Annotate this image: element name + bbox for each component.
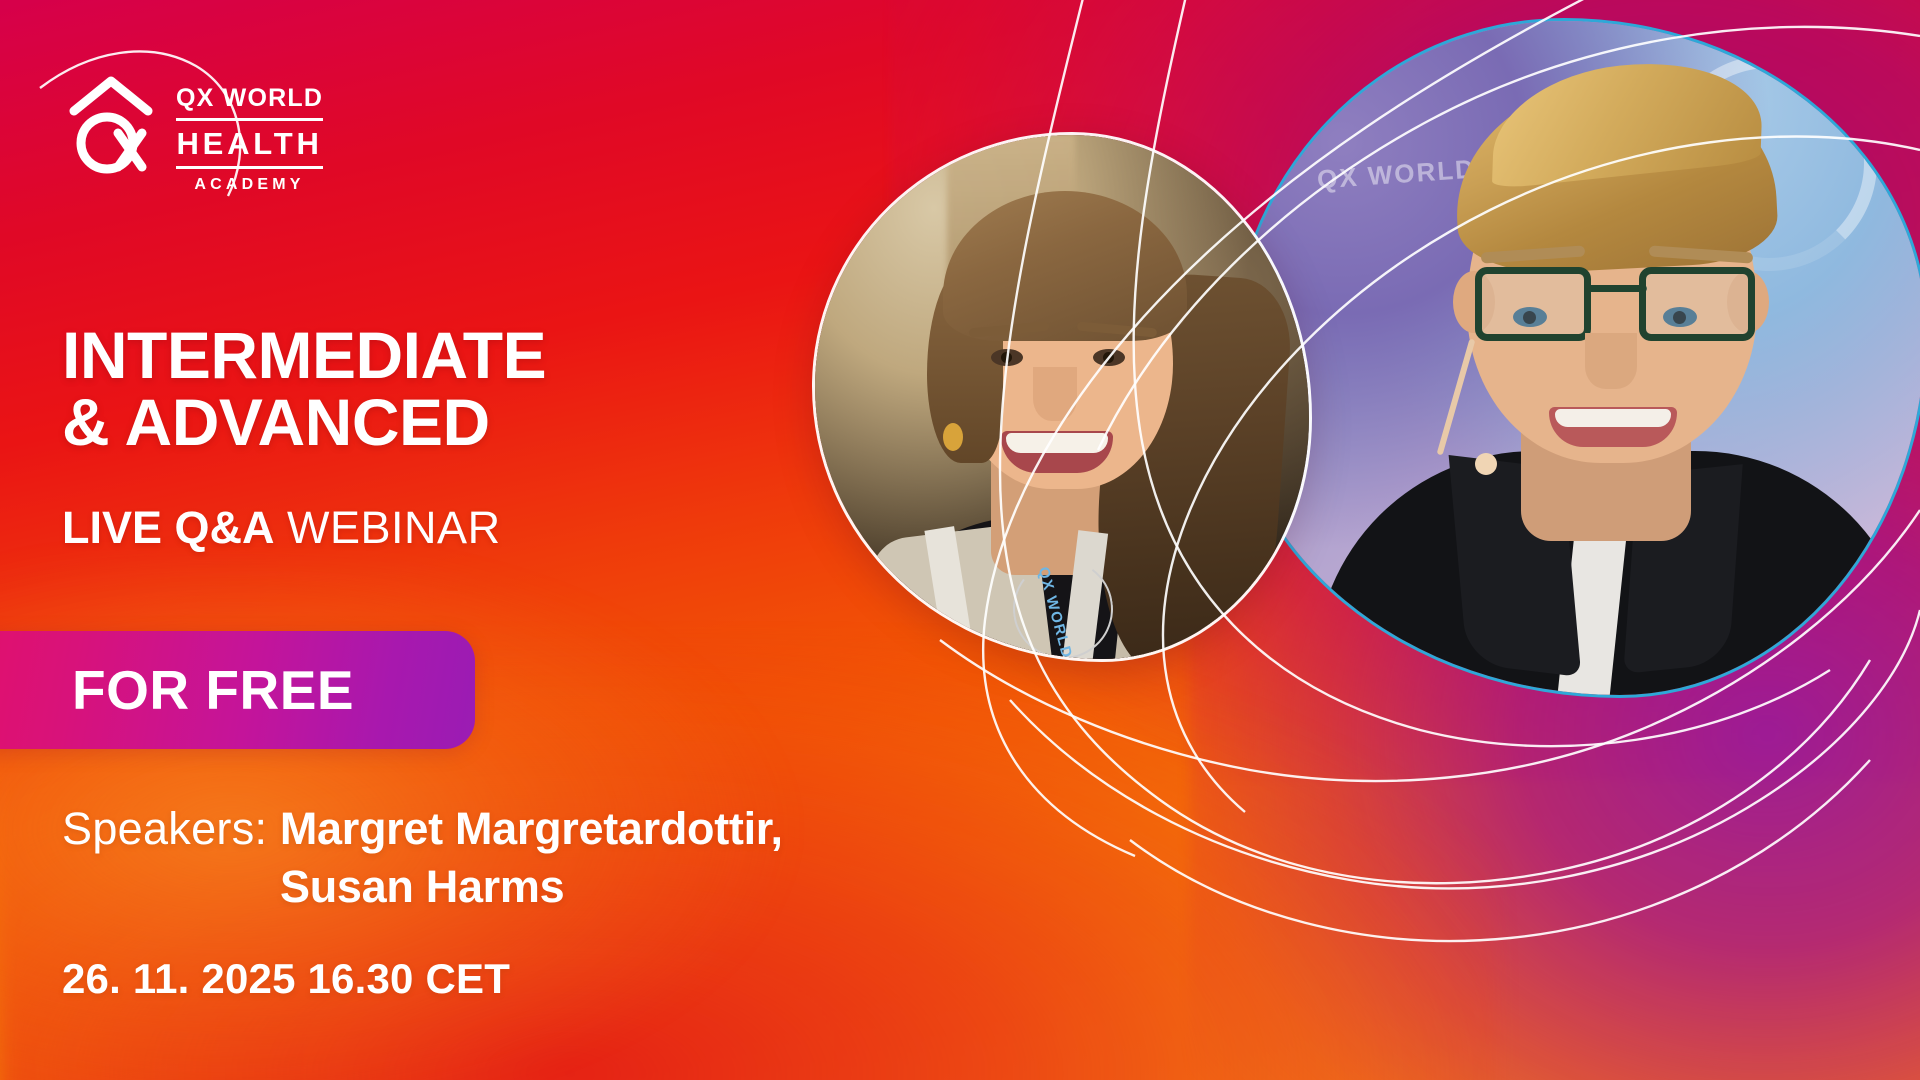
speaker2-nose	[1585, 333, 1637, 389]
subheadline-webinar: WEBINAR	[287, 502, 501, 553]
speaker1-mouth	[1001, 431, 1113, 473]
speaker2-mouth	[1549, 407, 1677, 447]
speaker-name-1: Margret Margretardottir,	[280, 803, 783, 854]
brand-line-academy: ACADEMY	[176, 169, 323, 193]
brand-logo-text: QX WORLD HEALTH ACADEMY	[176, 60, 323, 193]
speaker1-nose	[1033, 367, 1077, 421]
speaker2-glasses	[1475, 267, 1755, 343]
speakers-label: Speakers:	[62, 803, 267, 854]
webinar-promo-banner: QX WORLD	[0, 0, 1920, 1080]
speaker1-teeth	[1006, 433, 1108, 453]
speaker1-eye-left	[991, 349, 1023, 366]
glasses-bridge	[1587, 285, 1647, 292]
speaker-photo-susan-harms: QX WORLD	[1228, 18, 1920, 698]
for-free-badge: FOR FREE	[0, 631, 475, 749]
brand-logo: QX WORLD HEALTH ACADEMY	[62, 60, 323, 193]
speakers-line-2: Susan Harms	[62, 858, 783, 916]
speaker-photo-margret-margretardottir: QX WORLD	[812, 132, 1312, 662]
speaker2-teeth	[1555, 409, 1671, 427]
headset-microphone-tip	[1475, 453, 1497, 475]
glasses-lens-right	[1639, 267, 1755, 341]
speakers-line-1: Speakers: Margret Margretardottir,	[62, 800, 783, 858]
qx-house-q-logo-icon	[62, 71, 160, 183]
speaker1-eye-right	[1093, 349, 1125, 366]
subheadline-live-qa: LIVE Q&A	[62, 502, 275, 553]
headline: INTERMEDIATE & ADVANCED	[62, 322, 546, 457]
event-datetime: 26. 11. 2025 16.30 CET	[62, 955, 510, 1003]
speakers-block: Speakers: Margret Margretardottir, Susan…	[62, 800, 783, 915]
brand-line-qx-world: QX WORLD	[176, 86, 323, 118]
speaker1-earring	[943, 423, 963, 451]
brand-line-health: HEALTH	[176, 121, 323, 166]
speaker-name-2: Susan Harms	[280, 861, 564, 912]
headline-line-2: & ADVANCED	[62, 389, 546, 456]
glasses-lens-left	[1475, 267, 1591, 341]
for-free-badge-label: FOR FREE	[0, 658, 354, 722]
headline-line-1: INTERMEDIATE	[62, 322, 546, 389]
subheadline: LIVE Q&A WEBINAR	[62, 505, 501, 550]
